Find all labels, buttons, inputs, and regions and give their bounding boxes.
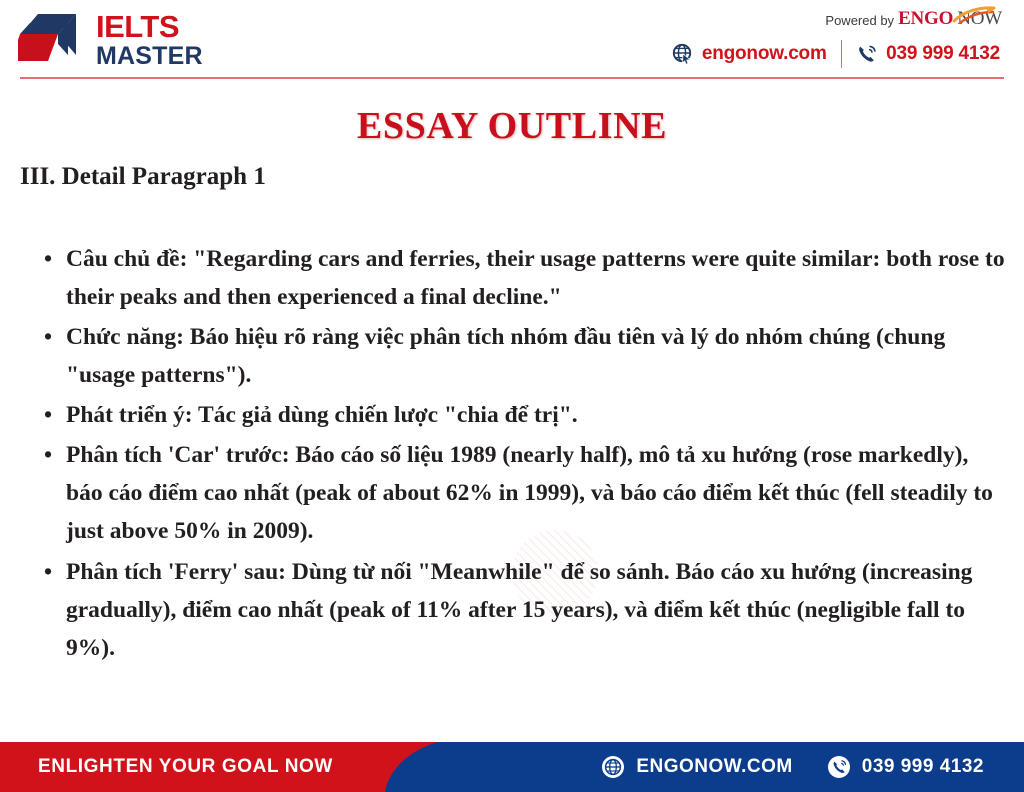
outline-bullet-list: Câu chủ đề: "Regarding cars and ferries,… [38,240,1008,669]
globe-cursor-icon [672,43,694,65]
footer-contacts: ENGONOW.COM 039 999 4132 [601,742,984,792]
globe-icon [601,755,625,779]
list-item: Phát triển ý: Tác giả dùng chiến lược "c… [38,396,1008,434]
footer-website-contact[interactable]: ENGONOW.COM [601,755,792,779]
header-website-contact[interactable]: engonow.com [672,43,827,65]
powered-by-engonow: Powered by ENGO NOW [825,8,1002,30]
list-item: Chức năng: Báo hiệu rõ ràng việc phân tí… [38,318,1008,394]
section-heading: III. Detail Paragraph 1 [20,163,266,191]
footer-phone-text: 039 999 4132 [862,756,984,778]
page-header: IELTS MASTER Powered by ENGO NOW engonow… [0,0,1024,80]
list-item: Phân tích 'Car' trước: Báo cáo số liệu 1… [38,436,1008,550]
footer-website-text: ENGONOW.COM [636,756,792,778]
phone-icon [827,755,851,779]
header-phone-contact[interactable]: 039 999 4132 [856,43,1000,65]
book-pages-logo-icon [18,11,88,69]
footer-tagline: ENLIGHTEN YOUR GOAL NOW [38,742,333,792]
footer-phone-contact[interactable]: 039 999 4132 [827,755,984,779]
header-contact-divider [841,40,843,68]
orange-swoosh-icon [952,6,996,24]
logo-line-ielts: IELTS [96,11,203,43]
list-item: Phân tích 'Ferry' sau: Dùng từ nối "Mean… [38,553,1008,667]
list-item: Câu chủ đề: "Regarding cars and ferries,… [38,240,1008,316]
brand-logo-text: IELTS MASTER [96,11,203,69]
brand-logo[interactable]: IELTS MASTER [18,11,203,69]
phone-call-icon [856,43,878,65]
logo-line-master: MASTER [96,44,203,70]
header-phone-text: 039 999 4132 [886,43,1000,65]
page-footer: ENLIGHTEN YOUR GOAL NOW ENGONOW.COM 039 … [0,742,1024,792]
page-title: ESSAY OUTLINE [0,104,1024,148]
header-divider-rule [20,77,1004,79]
header-contacts: engonow.com 039 999 4132 [672,40,1000,68]
engonow-brand-engo: ENGO [898,8,953,30]
header-website-text: engonow.com [702,43,827,65]
powered-by-label: Powered by [825,13,894,30]
